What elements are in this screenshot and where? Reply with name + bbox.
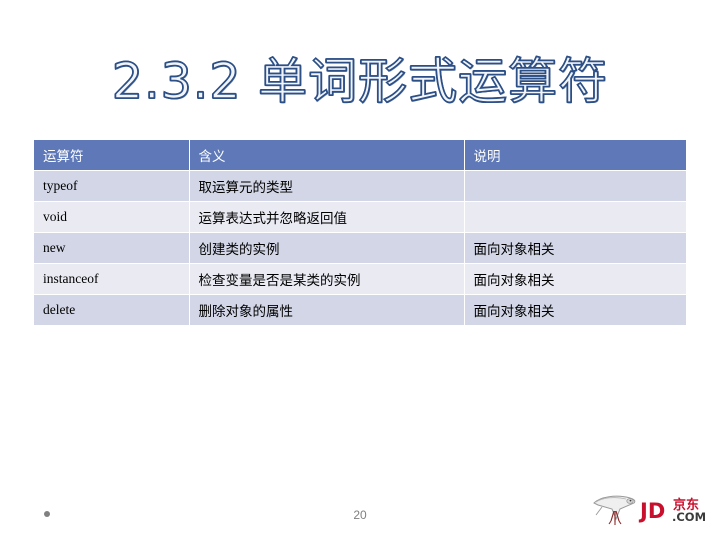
cell-operator: delete [34,295,189,326]
cell-meaning: 删除对象的属性 [189,295,464,326]
table-row: delete 删除对象的属性 面向对象相关 [34,295,686,326]
column-header-meaning: 含义 [189,140,464,171]
cell-operator: instanceof [34,264,189,295]
operators-table-wrapper: 运算符 含义 说明 typeof 取运算元的类型 void 运算表达式并忽略返回… [34,140,686,326]
column-header-note: 说明 [464,140,686,171]
jd-brand-tld: .COM [672,510,706,524]
cell-meaning: 运算表达式并忽略返回值 [189,202,464,233]
jd-logo-svg: JD 京东 .COM [590,491,710,531]
page-title: 2.3.2 单词形式运算符 [0,52,720,112]
cell-note [464,202,686,233]
table-header: 运算符 含义 说明 [34,140,686,171]
cell-note [464,171,686,202]
cell-note: 面向对象相关 [464,264,686,295]
column-header-operator: 运算符 [34,140,189,171]
cell-note: 面向对象相关 [464,295,686,326]
table-row: typeof 取运算元的类型 [34,171,686,202]
table-body: typeof 取运算元的类型 void 运算表达式并忽略返回值 new 创建类的… [34,171,686,326]
operators-table: 运算符 含义 说明 typeof 取运算元的类型 void 运算表达式并忽略返回… [34,140,686,326]
cell-operator: void [34,202,189,233]
slide-canvas: 2.3.2 单词形式运算符 运算符 含义 说明 typeof 取运算元的类型 [0,0,720,540]
table-row: instanceof 检查变量是否是某类的实例 面向对象相关 [34,264,686,295]
table-row: void 运算表达式并忽略返回值 [34,202,686,233]
jd-logo: JD 京东 .COM [590,491,710,531]
table-header-row: 运算符 含义 说明 [34,140,686,171]
cell-note: 面向对象相关 [464,233,686,264]
cell-meaning: 取运算元的类型 [189,171,464,202]
joy-dog-icon [594,496,635,525]
table-row: new 创建类的实例 面向对象相关 [34,233,686,264]
cell-operator: typeof [34,171,189,202]
cell-meaning: 检查变量是否是某类的实例 [189,264,464,295]
jd-brand-latin: JD [638,499,665,523]
cell-operator: new [34,233,189,264]
slide-title-text: 2.3.2 单词形式运算符 [112,52,608,112]
cell-meaning: 创建类的实例 [189,233,464,264]
